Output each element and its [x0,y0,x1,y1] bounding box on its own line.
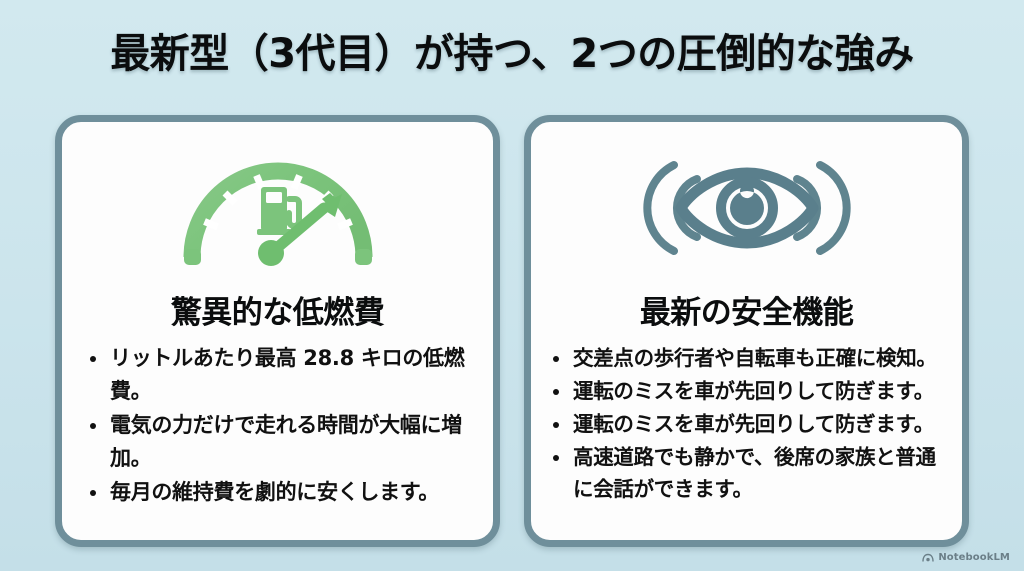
list-item: 運転のミスを車が先回りして防ぎます。 [551,375,948,407]
list-item: 交差点の歩行者や自転車も正確に検知。 [551,342,948,374]
page-title: 最新型（3代目）が持つ、2つの圧倒的な強み [0,28,1024,80]
list-item: 運転のミスを車が先回りして防ぎます。 [551,408,948,440]
list-item: 毎月の維持費を劇的に安くします。 [88,476,471,509]
notebooklm-logo-icon [922,553,934,563]
bullet-list-fuel-economy: リットルあたり最高 28.8 キロの低燃費。 電気の力だけで走れる時間が大幅に増… [62,342,493,540]
slide-root: 最新型（3代目）が持つ、2つの圧倒的な強み [0,0,1024,571]
watermark: NotebookLM [922,552,1010,563]
watermark-label: NotebookLM [938,552,1010,563]
sensing-eye-icon [531,122,962,294]
list-item: 電気の力だけで走れる時間が大幅に増加。 [88,409,471,475]
fuel-gauge-icon [62,122,493,294]
bullet-list-safety-features: 交差点の歩行者や自転車も正確に検知。 運転のミスを車が先回りして防ぎます。 運転… [531,342,962,540]
card-fuel-economy: 驚異的な低燃費 リットルあたり最高 28.8 キロの低燃費。 電気の力だけで走れ… [55,115,500,547]
card-safety-features: 最新の安全機能 交差点の歩行者や自転車も正確に検知。 運転のミスを車が先回りして… [524,115,969,547]
card-heading-safety-features: 最新の安全機能 [640,294,854,332]
list-item: リットルあたり最高 28.8 キロの低燃費。 [88,342,471,408]
list-item: 高速道路でも静かで、後席の家族と普通に会話ができます。 [551,441,948,505]
card-heading-fuel-economy: 驚異的な低燃費 [171,294,385,332]
cards-container: 驚異的な低燃費 リットルあたり最高 28.8 キロの低燃費。 電気の力だけで走れ… [55,115,969,547]
